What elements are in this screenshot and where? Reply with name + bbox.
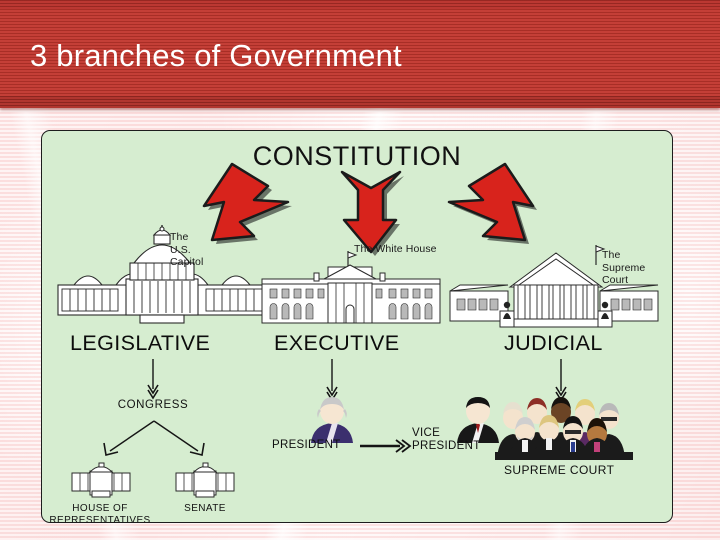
banner-bottom-band — [0, 96, 720, 108]
page-title: 3 branches of Government — [30, 38, 402, 74]
connector-executive-to-president — [325, 359, 339, 401]
congress-label: CONGRESS — [98, 399, 208, 412]
house-label-line-1: HOUSE OF — [41, 503, 160, 515]
connector-congress-to-chambers — [94, 419, 214, 463]
supreme-court-note-line-1: The — [602, 249, 645, 262]
house-label-line-2: REPRESENTATIVES — [41, 515, 160, 524]
justices-group — [491, 396, 637, 465]
white-house-icon — [258, 249, 444, 338]
capitol-note-line-1: The — [170, 231, 203, 244]
white-house-note: The White House — [354, 243, 437, 256]
diagram-panel: CONSTITUTION — [41, 130, 673, 523]
capitol-note-line-3: Capitol — [170, 256, 203, 269]
connector-legislative-to-congress — [146, 359, 160, 399]
capitol-building-note: The U.S. Capitol — [170, 231, 203, 269]
vice-president-label-line-1: VICE — [412, 427, 481, 440]
banner-top-band — [0, 0, 720, 9]
connector-president-to-vice-president — [360, 437, 412, 455]
supreme-court-group-label: SUPREME COURT — [504, 463, 614, 477]
branch-title-judicial: JUDICIAL — [504, 331, 603, 356]
connector-judicial-to-court — [554, 359, 568, 401]
title-banner: 3 branches of Government — [0, 0, 720, 108]
branch-title-executive: EXECUTIVE — [274, 331, 399, 356]
president-label: PRESIDENT — [272, 439, 341, 452]
house-of-representatives-label: HOUSE OF REPRESENTATIVES — [41, 503, 160, 523]
senate-capitol-icon — [174, 461, 236, 506]
branch-title-legislative: LEGISLATIVE — [70, 331, 210, 356]
capitol-note-line-2: U.S. — [170, 244, 203, 257]
supreme-court-note-line-2: Supreme — [602, 262, 645, 275]
supreme-court-note-line-3: Court — [602, 274, 645, 287]
supreme-court-building-note: The Supreme Court — [602, 249, 645, 287]
capitol-building-icon — [54, 223, 270, 338]
vice-president-label-line-2: PRESIDENT — [412, 440, 481, 453]
senate-label: SENATE — [150, 503, 260, 515]
house-capitol-icon — [70, 461, 132, 506]
vice-president-label: VICE PRESIDENT — [412, 427, 481, 453]
